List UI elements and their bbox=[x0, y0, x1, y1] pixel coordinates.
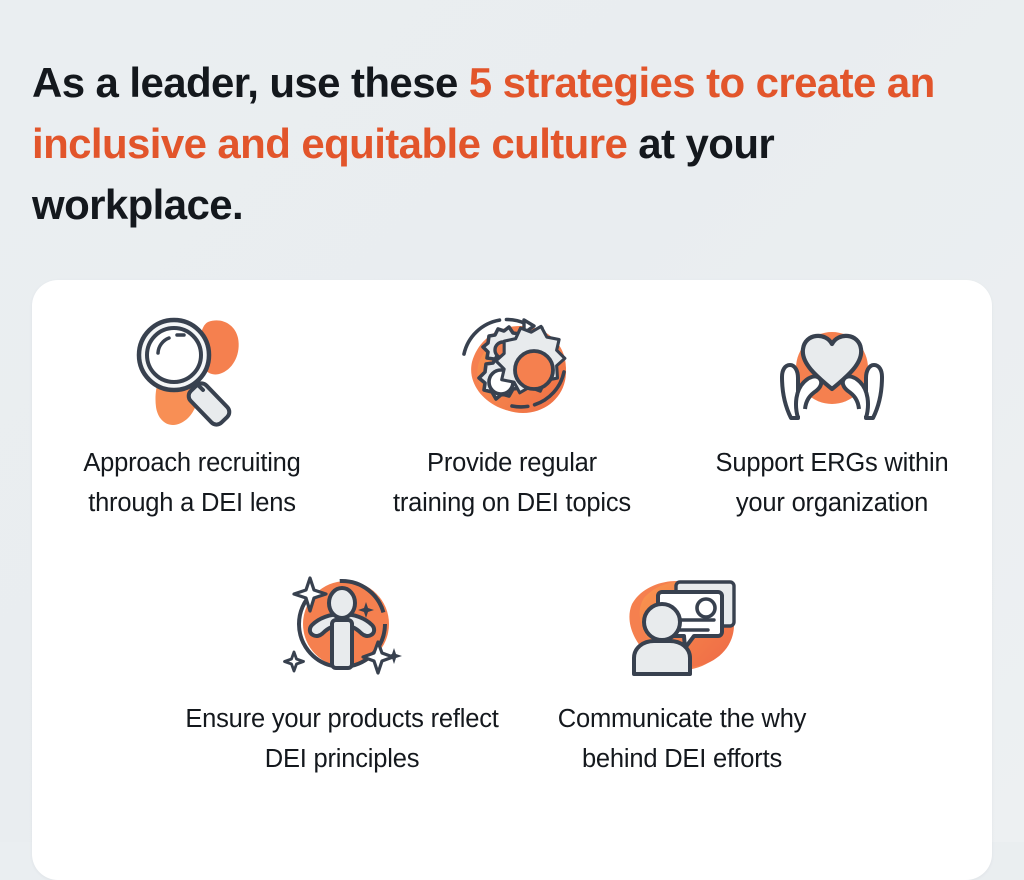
page-title: As a leader, use these 5 strategies to c… bbox=[32, 52, 992, 235]
strategy-item-approach-recruiting[interactable]: Approach recruiting through a DEI lens bbox=[32, 304, 352, 523]
gears-cycle-icon bbox=[437, 304, 587, 429]
strategy-caption-line1: Support ERGs within bbox=[716, 449, 949, 477]
page-title-part1: As a leader, use these bbox=[32, 59, 469, 106]
strategy-row-1: Approach recruiting through a DEI lens bbox=[32, 304, 992, 523]
strategy-caption: Communicate the why behind DEI efforts bbox=[558, 699, 806, 779]
person-message-icon bbox=[607, 560, 757, 685]
strategy-caption-line2: your organization bbox=[736, 489, 928, 517]
magnifying-glass-icon bbox=[117, 304, 267, 429]
strategy-caption: Ensure your products reflect DEI princip… bbox=[185, 699, 498, 779]
strategy-caption: Support ERGs within your organization bbox=[716, 443, 949, 523]
strategy-caption-line1: Ensure your products reflect bbox=[185, 705, 498, 733]
strategy-item-products-reflect-dei[interactable]: Ensure your products reflect DEI princip… bbox=[172, 560, 512, 779]
strategy-caption-line2: DEI principles bbox=[265, 745, 420, 773]
strategy-item-support-ergs[interactable]: Support ERGs within your organization bbox=[672, 304, 992, 523]
strategy-item-communicate-why[interactable]: Communicate the why behind DEI efforts bbox=[512, 560, 852, 779]
strategy-row-2: Ensure your products reflect DEI princip… bbox=[32, 560, 992, 779]
strategy-caption: Provide regular training on DEI topics bbox=[393, 443, 631, 523]
strategy-item-provide-training[interactable]: Provide regular training on DEI topics bbox=[352, 304, 672, 523]
strategy-caption-line1: Provide regular bbox=[427, 449, 597, 477]
strategy-caption-line1: Approach recruiting bbox=[83, 449, 300, 477]
person-sparkles-icon bbox=[267, 560, 417, 685]
strategy-caption: Approach recruiting through a DEI lens bbox=[83, 443, 300, 523]
strategy-caption-line2: behind DEI efforts bbox=[582, 745, 782, 773]
hands-heart-icon bbox=[757, 304, 907, 429]
strategy-caption-line1: Communicate the why bbox=[558, 705, 806, 733]
strategy-caption-line2: training on DEI topics bbox=[393, 489, 631, 517]
strategies-card: Approach recruiting through a DEI lens bbox=[32, 280, 992, 880]
strategy-caption-line2: through a DEI lens bbox=[88, 489, 296, 517]
